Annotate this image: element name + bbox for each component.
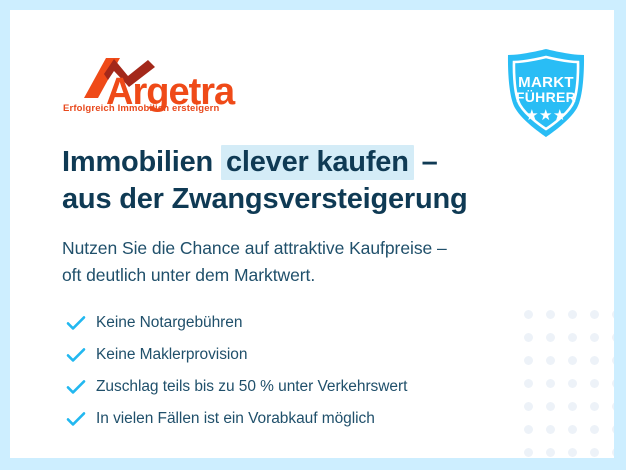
- dot: [568, 379, 577, 388]
- dot: [590, 310, 599, 319]
- list-item: Zuschlag teils bis zu 50 % unter Verkehr…: [66, 372, 566, 402]
- list-item: Keine Notargebühren: [66, 308, 566, 338]
- headline-line-2: aus der Zwangsversteigerung: [62, 181, 562, 218]
- list-item-label: Keine Maklerprovision: [96, 346, 247, 364]
- dot: [612, 310, 614, 319]
- dot: [568, 356, 577, 365]
- benefits-checklist: Keine Notargebühren Keine Maklerprovisio…: [66, 308, 566, 436]
- check-icon: [66, 377, 96, 397]
- subheading-line-2: oft deutlich unter dem Marktwert.: [62, 262, 582, 289]
- page-title: Immobilien clever kaufen – aus der Zwang…: [62, 144, 562, 217]
- check-icon: [66, 313, 96, 333]
- dot: [568, 310, 577, 319]
- list-item-label: Zuschlag teils bis zu 50 % unter Verkehr…: [96, 378, 407, 396]
- dot: [612, 402, 614, 411]
- dot: [590, 333, 599, 342]
- dot: [590, 379, 599, 388]
- banner-inner-surface: Argetra Erfolgreich Immobilien ersteiger…: [10, 10, 614, 458]
- headline-post: –: [414, 146, 438, 178]
- dot: [612, 379, 614, 388]
- market-leader-badge: MARKT FÜHRER ★★★: [499, 46, 593, 140]
- promo-banner: Argetra Erfolgreich Immobilien ersteiger…: [0, 0, 626, 470]
- logo-tagline: Erfolgreich Immobilien ersteigern: [63, 103, 219, 114]
- check-icon: [66, 345, 96, 365]
- headline-highlight: clever kaufen: [221, 145, 414, 180]
- list-item: Keine Maklerprovision: [66, 340, 566, 370]
- svg-text:FÜHRER: FÜHRER: [516, 89, 576, 105]
- dot: [568, 448, 577, 457]
- dot: [612, 425, 614, 434]
- headline-pre: Immobilien: [62, 146, 221, 178]
- dot: [524, 448, 533, 457]
- dot: [612, 333, 614, 342]
- dot: [590, 425, 599, 434]
- subheading: Nutzen Sie die Chance auf attraktive Kau…: [62, 235, 582, 288]
- svg-text:★★★: ★★★: [525, 106, 567, 124]
- dot: [590, 448, 599, 457]
- dot: [590, 402, 599, 411]
- check-icon: [66, 409, 96, 429]
- list-item-label: Keine Notargebühren: [96, 314, 242, 332]
- dot: [568, 333, 577, 342]
- dot: [612, 356, 614, 365]
- list-item-label: In vielen Fällen ist ein Vorabkauf mögli…: [96, 410, 375, 428]
- dot: [612, 448, 614, 457]
- dot: [590, 356, 599, 365]
- dot: [546, 448, 555, 457]
- list-item: In vielen Fällen ist ein Vorabkauf mögli…: [66, 404, 566, 434]
- dot: [568, 425, 577, 434]
- dot: [568, 402, 577, 411]
- headline-line-1: Immobilien clever kaufen –: [62, 144, 562, 181]
- subheading-line-1: Nutzen Sie die Chance auf attraktive Kau…: [62, 235, 582, 262]
